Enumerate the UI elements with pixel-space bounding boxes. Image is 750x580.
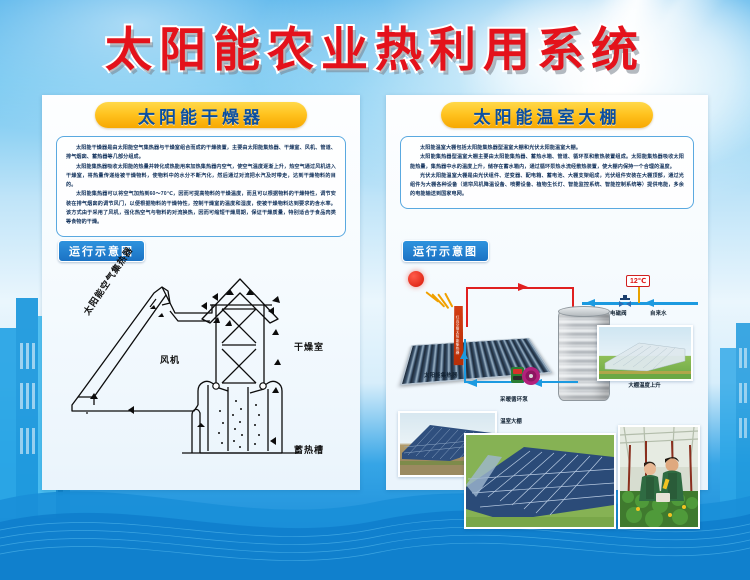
photo-pv-array-field [464, 433, 616, 529]
hot-pipe-vertical [466, 287, 468, 327]
poster-root: 太阳能农业热利用系统 太阳能干燥器 太阳能干燥器是由太阳能空气集热器与干燥室组合… [0, 0, 750, 580]
panel-solar-dryer: 太阳能干燥器 太阳能干燥器是由太阳能空气集热器与干燥室组合而成的干燥装置，主要由… [42, 95, 360, 490]
label-solar-collector: 太阳能集热器 [424, 371, 458, 379]
dryer-paragraph-2: 太阳能集热器吸收太阳能的热量并转化成热能用来加热集热器内空气，使空气温度逐渐上升… [66, 163, 336, 191]
dryer-paragraph-3: 太阳能集热器可以将空气加热到60～70℃，因而可提高物料的干燥温度，而且可以根据… [66, 190, 336, 227]
greenhouse-paragraph-2: 太阳能集热器型温室大棚主要由太阳能集热器、蓄热水箱、管道、循环泵和散热装置组成。… [410, 153, 684, 172]
panel-header-dryer: 太阳能干燥器 [95, 102, 307, 128]
page-title: 太阳能农业热利用系统 [0, 26, 750, 73]
circulation-pump-icon [511, 363, 541, 389]
dryer-label-fan: 风机 [160, 353, 180, 366]
label-tap-water: 自来水 [650, 309, 667, 317]
caption-greenhouse: 温室大棚 [486, 417, 536, 425]
collector-brand-strip: 红真空管太阳能集热器 [454, 306, 464, 365]
caption-greenhouse-temp-rise: 大棚温度上升 [617, 381, 672, 389]
panel-header-greenhouse: 太阳能温室大棚 [441, 102, 653, 128]
dryer-label-heat-storage: 蓄热槽 [294, 443, 324, 456]
temp-connector [638, 287, 640, 303]
dryer-label-drying-room: 干燥室 [294, 340, 324, 353]
panel-solar-greenhouse: 太阳能温室大棚 太阳能温室大棚包括太阳能集热器型温室大棚和光伏太阳能温室大棚。 … [386, 95, 708, 490]
return-pipe-vertical [464, 339, 466, 383]
label-circulation-pump: 采暖循环泵 [500, 395, 528, 403]
greenhouse-description-box: 太阳能温室大棚包括太阳能集热器型温室大棚和光伏太阳能温室大棚。 太阳能集热器型温… [400, 136, 694, 209]
greenhouse-system-diagram: 红真空管太阳能集热器 [392, 267, 702, 417]
tank-to-pump-pipe [538, 381, 578, 383]
sun-icon [408, 271, 424, 287]
photo-greenhouse-exterior [597, 325, 693, 381]
temperature-badge: 12℃ [626, 275, 650, 287]
dryer-paragraph-1: 太阳能干燥器是由太阳能空气集热器与干燥室组合而成的干燥装置，主要由太阳能集热器、… [66, 144, 336, 163]
greenhouse-paragraph-1: 太阳能温室大棚包括太阳能集热器型温室大棚和光伏太阳能温室大棚。 [410, 144, 684, 153]
greenhouse-diagram-badge: 运行示意图 [402, 240, 489, 262]
photo-farmers-in-greenhouse [618, 425, 700, 529]
label-solenoid-valve: 电磁阀 [610, 309, 627, 317]
tap-water-pipe [582, 302, 698, 305]
greenhouse-paragraph-3: 光伏太阳能温室大棚是由光伏组件、逆变器、配电箱、蓄电池、大棚支架组成，光伏组件安… [410, 172, 684, 200]
dryer-description-box: 太阳能干燥器是由太阳能空气集热器与干燥室组合而成的干燥装置，主要由太阳能集热器、… [56, 136, 346, 237]
solenoid-valve-icon [618, 295, 632, 309]
hot-pipe-horizontal [466, 287, 574, 289]
